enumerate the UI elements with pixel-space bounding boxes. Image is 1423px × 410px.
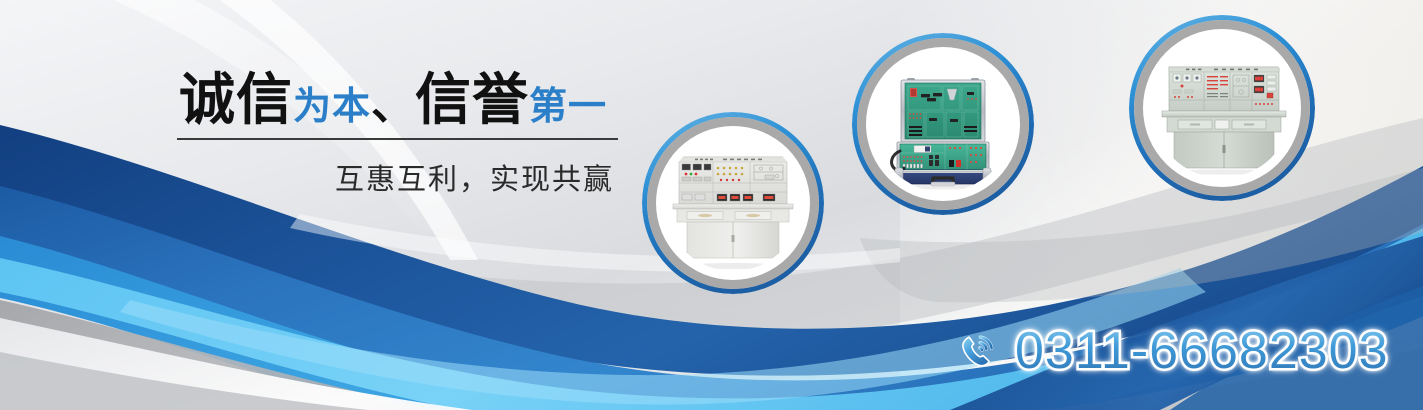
slogan-subtitle: 互惠互利，实现共赢 bbox=[175, 156, 614, 198]
phone-call-icon bbox=[955, 328, 1001, 374]
product-circle-1[interactable] bbox=[642, 112, 824, 294]
slogan-block: 诚信为本、信誉第一 互惠互利，实现共赢 bbox=[175, 72, 620, 198]
product-circle-3[interactable] bbox=[1129, 15, 1315, 201]
slogan-part-3: 、 bbox=[371, 80, 415, 129]
phone-number-wrap: 0311-66682303 0311-66682303 bbox=[1015, 325, 1389, 377]
phone-number: 0311-66682303 bbox=[1015, 322, 1389, 380]
slogan-part-4: 信誉 bbox=[415, 68, 529, 131]
promo-banner: 诚信为本、信誉第一 互惠互利，实现共赢 bbox=[0, 0, 1423, 410]
contact-phone[interactable]: 0311-66682303 0311-66682303 bbox=[955, 325, 1389, 377]
product-image-3 bbox=[1152, 38, 1292, 178]
slogan-divider bbox=[177, 138, 618, 140]
slogan-part-2: 为本 bbox=[293, 86, 371, 128]
product-image-2 bbox=[875, 56, 1011, 192]
slogan-headline: 诚信为本、信誉第一 bbox=[175, 72, 620, 132]
product-circle-2[interactable] bbox=[852, 33, 1034, 215]
slogan-part-5: 第一 bbox=[529, 86, 607, 128]
slogan-part-1: 诚信 bbox=[179, 68, 293, 131]
product-image-1 bbox=[665, 135, 801, 271]
